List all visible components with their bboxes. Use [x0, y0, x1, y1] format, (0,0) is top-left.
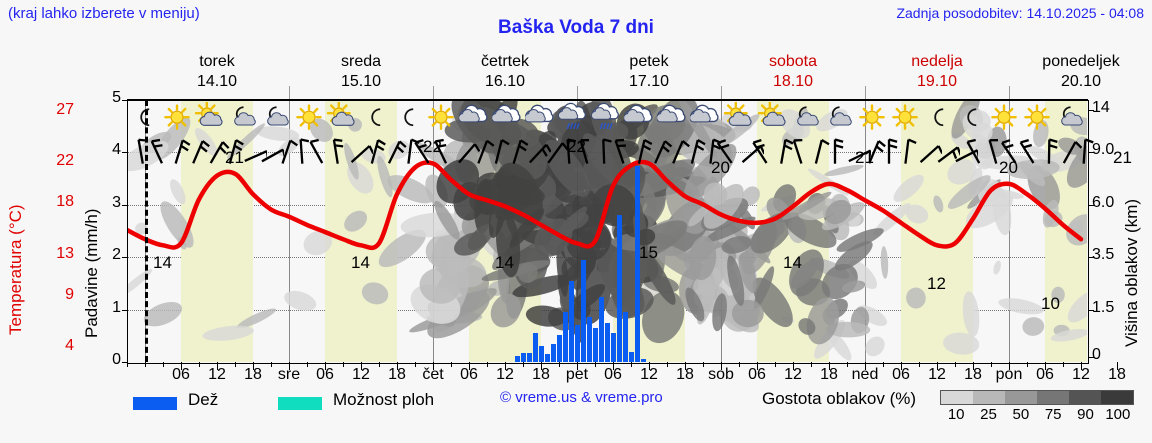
cloud-scale-tick-label: 25 [980, 406, 997, 423]
temp-min-label: 14 [351, 253, 370, 273]
rain-legend-label: Dež [188, 390, 218, 410]
x-axis-label: 06 [172, 366, 190, 384]
x-axis-label: 06 [460, 366, 478, 384]
day-name: nedelja [865, 52, 1009, 72]
day-header-sreda: sreda15.10 [289, 52, 433, 100]
day-header-separator [433, 86, 434, 100]
day-header-bar: torek14.10sreda15.10četrtek16.10petek17.… [127, 52, 1087, 100]
moon-cloud-icon [260, 102, 292, 134]
day-date: 15.10 [289, 72, 433, 92]
x-axis-label: 18 [676, 366, 694, 384]
temperature-tick-label: 13 [38, 245, 74, 263]
moon-cloud-icon [790, 102, 822, 134]
cloud-scale-tick-label: 100 [1105, 406, 1130, 423]
x-axis-label: 18 [964, 366, 982, 384]
page-header: (kraj lahko izberete v meniju) Baška Vod… [0, 0, 1152, 30]
cloud-scale-tick-label: 75 [1045, 406, 1062, 423]
temp-min-label: 12 [927, 274, 946, 294]
axis-tick-mark [1088, 110, 1094, 111]
cloud-scale-step [941, 391, 973, 404]
day-header-sobota: sobota18.10 [721, 52, 865, 100]
x-axis-labels: 061218sre061218čet061218pet061218sob0612… [0, 366, 1152, 386]
temperature-axis-title: Temperatura (°C) [6, 170, 30, 370]
temp-min-label: 14 [153, 253, 172, 273]
sun-icon [425, 102, 457, 134]
cloud-scale-step [1101, 391, 1133, 404]
x-axis-label: ned [852, 366, 879, 384]
day-date: 17.10 [577, 72, 721, 92]
sun-cloud-icon [326, 102, 358, 134]
x-axis-label: 18 [1108, 366, 1126, 384]
cloud-rain-icon [558, 102, 590, 134]
cloud-density-scale-ticks: 1025507590100 [934, 406, 1144, 426]
day-date: 16.10 [433, 72, 577, 92]
cloud-icon [459, 102, 491, 134]
x-axis-label: 12 [928, 366, 946, 384]
sun-cloud-icon [194, 102, 226, 134]
temp-min-label: 15 [639, 243, 658, 263]
cloud-height-tick-label: 14 [1092, 99, 1126, 117]
sun-icon [293, 102, 325, 134]
x-axis-label: 06 [316, 366, 334, 384]
day-name: četrtek [433, 52, 577, 72]
temp-min-label: 14 [495, 253, 514, 273]
cloud-icon [657, 102, 689, 134]
sun-icon [161, 102, 193, 134]
moon-cloud-icon [227, 102, 259, 134]
precipitation-tick-label: 2 [103, 246, 121, 264]
cloud-height-tick-label: 1.5 [1092, 299, 1126, 317]
temperature-tick-label: 4 [38, 337, 74, 355]
cloud-scale-tick-label: 90 [1077, 406, 1094, 423]
temp-max-label: 21 [1113, 148, 1132, 168]
day-name: sreda [289, 52, 433, 72]
cloud-height-tick-label: 6.0 [1092, 194, 1126, 212]
x-axis-label: 18 [820, 366, 838, 384]
sun-cloud-icon [723, 102, 755, 134]
day-date: 19.10 [865, 72, 1009, 92]
x-axis-label: 12 [208, 366, 226, 384]
x-axis-label: 12 [640, 366, 658, 384]
precipitation-tick-label: 5 [103, 89, 121, 107]
temperature-tick-label: 9 [38, 286, 74, 304]
cloud-scale-tick-label: 10 [948, 406, 965, 423]
weather-icons-row [127, 100, 1087, 136]
axis-tick-mark [1088, 357, 1094, 358]
day-date: 14.10 [145, 72, 289, 92]
cloud-height-tick-label: 0 [1092, 346, 1126, 364]
cloud-icon [690, 102, 722, 134]
x-axis-label: pon [996, 366, 1023, 384]
cloud-rain-icon [591, 102, 623, 134]
wind-barbs-row [127, 136, 1087, 166]
axis-tick-mark [1088, 257, 1094, 258]
sun-icon [889, 102, 921, 134]
temperature-tick-label: 18 [38, 193, 74, 211]
cloud-density-legend-title: Gostota oblakov (%) [762, 389, 916, 409]
x-axis-label: 12 [496, 366, 514, 384]
sun-icon [1021, 102, 1053, 134]
showers-legend-label: Možnost ploh [333, 390, 434, 410]
day-name: ponedeljek [1009, 52, 1152, 72]
cloud-density-color-scale [940, 390, 1134, 405]
cloud-scale-step [1005, 391, 1037, 404]
x-axis-label: 12 [1072, 366, 1090, 384]
x-axis-label: 06 [748, 366, 766, 384]
x-axis-label: pet [566, 366, 588, 384]
cloud-height-tick-label: 3.5 [1092, 246, 1126, 264]
x-axis-label: 18 [244, 366, 262, 384]
precipitation-tick-label: 1 [103, 299, 121, 317]
moon-icon [955, 102, 987, 134]
axis-tick-mark [1088, 205, 1094, 206]
moon-icon [359, 102, 391, 134]
day-header-separator [721, 86, 722, 100]
day-header-torek: torek14.10 [145, 52, 289, 100]
sun-cloud-icon [757, 102, 789, 134]
plot-frame-top [127, 99, 1088, 100]
x-axis-label: 12 [784, 366, 802, 384]
moon-cloud-icon [823, 102, 855, 134]
x-axis-label: 18 [532, 366, 550, 384]
x-axis-label: sob [708, 366, 734, 384]
cloud-icon [525, 102, 557, 134]
moon-icon [392, 102, 424, 134]
wind-barb [1066, 136, 1102, 166]
moon-icon [128, 102, 160, 134]
cloud-icon [624, 102, 656, 134]
day-header-separator [1009, 86, 1010, 100]
day-date: 18.10 [721, 72, 865, 92]
x-axis-label: 12 [352, 366, 370, 384]
cloud-scale-tick-label: 50 [1012, 406, 1029, 423]
x-axis-label: 06 [1036, 366, 1054, 384]
day-header-separator [289, 86, 290, 100]
copyright-link[interactable]: © vreme.us & vreme.pro [500, 389, 663, 406]
cloud-icon [492, 102, 524, 134]
x-axis-label: 18 [388, 366, 406, 384]
x-axis-label: 06 [604, 366, 622, 384]
day-date: 20.10 [1009, 72, 1152, 92]
cloud-scale-step [973, 391, 1005, 404]
day-header-separator [577, 86, 578, 100]
sun-icon [856, 102, 888, 134]
cloud-scale-step [1069, 391, 1101, 404]
day-header-separator [865, 86, 866, 100]
temp-min-label: 10 [1041, 294, 1060, 314]
moon-cloud-icon [1054, 102, 1086, 134]
rain-legend-swatch [133, 397, 177, 410]
x-axis-label: čet [422, 366, 443, 384]
day-header-četrtek: četrtek16.10 [433, 52, 577, 100]
precipitation-tick-label: 3 [103, 194, 121, 212]
last-update-text: Zadnja posodobitev: 14.10.2025 - 04:08 [896, 5, 1144, 21]
day-header-ponedeljek: ponedeljek20.10 [1009, 52, 1152, 100]
moon-icon [922, 102, 954, 134]
showers-legend-swatch [278, 397, 322, 410]
day-name: petek [577, 52, 721, 72]
axis-tick-mark [1088, 310, 1094, 311]
day-header-petek: petek17.10 [577, 52, 721, 100]
x-axis-label: sre [278, 366, 300, 384]
temperature-tick-label: 22 [38, 152, 74, 170]
day-name: torek [145, 52, 289, 72]
x-axis-label: 06 [892, 366, 910, 384]
sun-icon [988, 102, 1020, 134]
cloud-scale-step [1037, 391, 1069, 404]
precipitation-tick-label: 4 [103, 141, 121, 159]
day-name: sobota [721, 52, 865, 72]
temperature-tick-label: 27 [38, 101, 74, 119]
day-header-nedelja: nedelja19.10 [865, 52, 1009, 100]
temp-min-label: 14 [783, 253, 802, 273]
